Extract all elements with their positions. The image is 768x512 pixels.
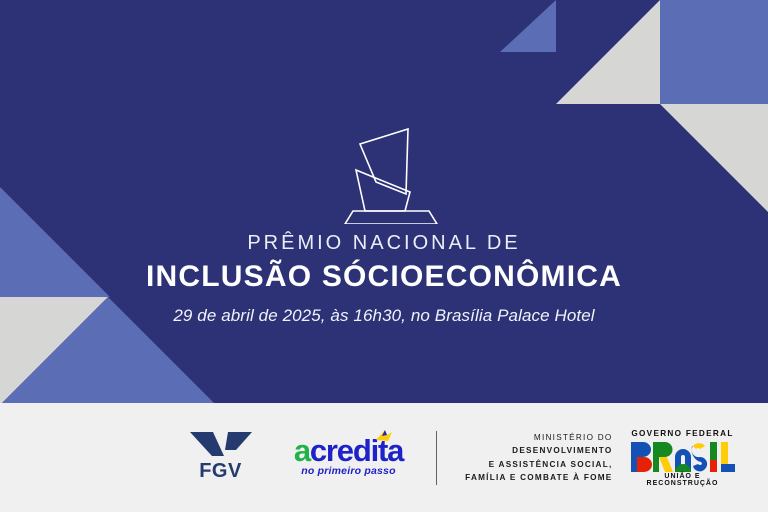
logo-acredita: acredita no primeiro passo xyxy=(286,429,412,487)
logo-governo-federal: GOVERNO FEDERAL xyxy=(629,429,737,487)
footer-logos-bar: FGV acredita no primeiro passo MINISTÉRI… xyxy=(0,403,768,512)
fgv-wordmark: FGV xyxy=(182,460,260,483)
acredita-tagline: no primeiro passo xyxy=(286,465,412,477)
acredita-flourish-icon xyxy=(374,429,394,443)
poster-subtitle: 29 de abril de 2025, às 16h30, no Brasíl… xyxy=(0,306,768,326)
ministry-line-1: MINISTÉRIO DO xyxy=(463,431,613,444)
logo-row: FGV acredita no primeiro passo MINISTÉRI… xyxy=(0,403,768,512)
event-poster: PRÊMIO NACIONAL DE INCLUSÃO SÓCIOECONÔMI… xyxy=(0,0,768,512)
acredita-letter-a: a xyxy=(294,433,310,468)
ministry-line-3: E ASSISTÊNCIA SOCIAL, xyxy=(463,458,613,471)
uniao-reconstrucao-label: UNIÃO E RECONSTRUÇÃO xyxy=(629,473,737,487)
logo-ministry: MINISTÉRIO DO DESENVOLVIMENTO E ASSISTÊN… xyxy=(463,431,613,484)
shape-topright-blue-block xyxy=(660,0,768,104)
governo-federal-label: GOVERNO FEDERAL xyxy=(629,429,737,438)
fgv-bird-icon xyxy=(190,430,252,458)
logo-fgv: FGV xyxy=(182,428,260,488)
ministry-line-4: FAMÍLIA E COMBATE À FOME xyxy=(463,471,613,484)
logo-divider xyxy=(436,431,437,485)
trophy-icon xyxy=(336,112,446,224)
brasil-wordmark-icon xyxy=(631,442,735,472)
page-title: INCLUSÃO SÓCIOECONÔMICA xyxy=(0,259,768,295)
ministry-line-2: DESENVOLVIMENTO xyxy=(463,444,613,457)
poster-kicker: PRÊMIO NACIONAL DE xyxy=(0,232,768,255)
title-block: PRÊMIO NACIONAL DE INCLUSÃO SÓCIOECONÔMI… xyxy=(0,232,768,295)
